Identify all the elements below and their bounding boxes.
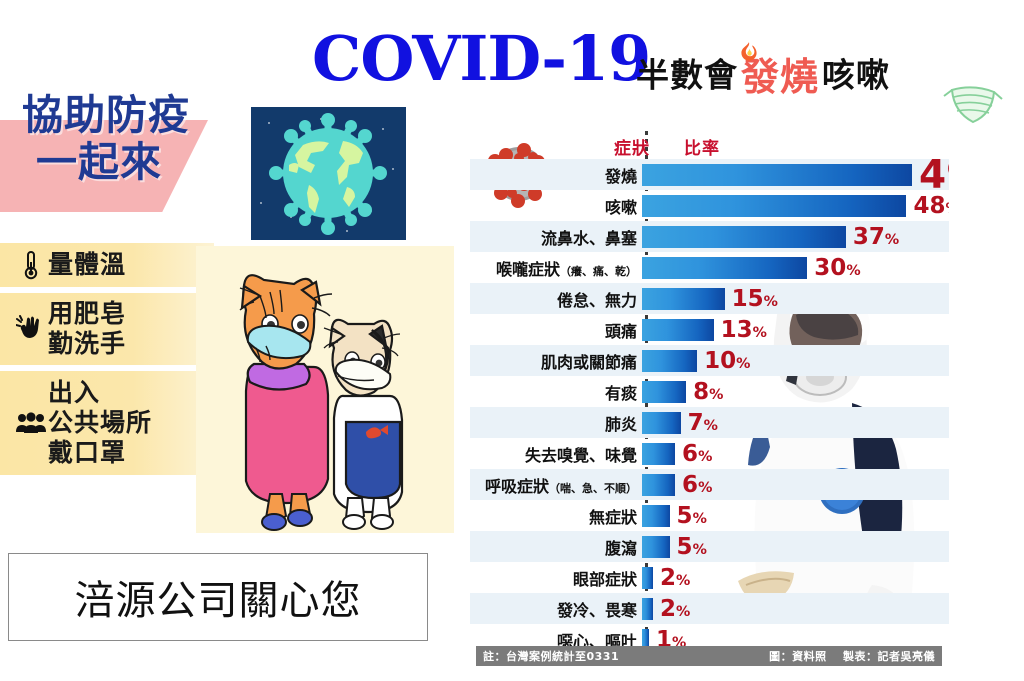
chart-row-label: 無症狀 bbox=[470, 504, 642, 528]
chart-row-label: 失去嗅覺、味覺 bbox=[470, 442, 642, 466]
chart-bar bbox=[642, 598, 653, 620]
chart-bar-value: 6% bbox=[682, 441, 712, 467]
chart-row: 無症狀5% bbox=[470, 500, 949, 531]
chart-row-label: 眼部症狀 bbox=[470, 566, 642, 590]
chart-row-label: 發冷、畏寒 bbox=[470, 597, 642, 621]
chart-bar-value: 37% bbox=[853, 224, 899, 250]
two-masked-cats-illustration bbox=[196, 246, 454, 533]
chart-bar-track: 6% bbox=[642, 438, 949, 469]
tip-measure-temperature: 量體溫 bbox=[0, 243, 214, 287]
chart-value-number: 6 bbox=[682, 472, 698, 498]
chart-value-number: 2 bbox=[660, 565, 676, 591]
chart-value-percent-sign: % bbox=[676, 573, 690, 589]
chart-value-number: 8 bbox=[693, 379, 709, 405]
chart-row-label-sub: （喘、急、不順） bbox=[549, 482, 637, 495]
chart-bar-value: 2% bbox=[660, 565, 690, 591]
headline: 半數會發燒咳嗽 bbox=[636, 56, 890, 94]
chart-bar-track: 8% bbox=[642, 376, 949, 407]
chart-row: 喉嚨症狀（癢、痛、乾）30% bbox=[470, 252, 949, 283]
chart-bar-track: 5% bbox=[642, 531, 949, 562]
chart-row: 肌肉或關節痛10% bbox=[470, 345, 949, 376]
chart-row-label: 喉嚨症狀（癢、痛、乾） bbox=[470, 256, 642, 280]
chart-rows: 發燒49%咳嗽48%流鼻水、鼻塞37%喉嚨症狀（癢、痛、乾）30%倦怠、無力15… bbox=[470, 159, 949, 655]
chart-bar-track: 49% bbox=[642, 159, 949, 190]
chart-value-percent-sign: % bbox=[693, 511, 707, 527]
chart-row-label: 肌肉或關節痛 bbox=[470, 349, 642, 373]
chart-bar-track: 13% bbox=[642, 314, 949, 345]
tip-label: 用肥皂 勤洗手 用肥皂 勤洗手 bbox=[48, 299, 126, 359]
chart-bar bbox=[642, 443, 675, 465]
chart-bar bbox=[642, 505, 670, 527]
chart-bar-track: 7% bbox=[642, 407, 949, 438]
slogan: 協助防疫 一起來 bbox=[22, 92, 252, 185]
chart-bar bbox=[642, 226, 846, 248]
chart-row-label: 咳嗽 bbox=[470, 194, 642, 218]
chart-bar bbox=[642, 288, 725, 310]
chart-bar bbox=[642, 164, 912, 186]
chart-value-percent-sign: % bbox=[698, 480, 712, 496]
chart-bar-value: 6% bbox=[682, 472, 712, 498]
chart-bar-value: 8% bbox=[693, 379, 723, 405]
chart-header-symptom: 症狀 bbox=[568, 134, 650, 159]
tip-line-1: 用肥皂 bbox=[48, 299, 126, 328]
chart-row-label: 呼吸症狀（喘、急、不順） bbox=[470, 473, 642, 497]
chart-bar-track: 2% bbox=[642, 562, 949, 593]
chart-bar-track: 6% bbox=[642, 469, 949, 500]
chart-bar-value: 15% bbox=[732, 286, 778, 312]
chart-value-percent-sign: % bbox=[709, 387, 723, 403]
footer-credit-image: 圖：資料照 bbox=[769, 650, 827, 663]
chart-bar-value: 30% bbox=[814, 255, 860, 281]
page-title: COVID-19 bbox=[312, 28, 650, 90]
chart-row: 呼吸症狀（喘、急、不順）6% bbox=[470, 469, 949, 500]
people-group-icon bbox=[14, 412, 48, 434]
chart-row: 咳嗽48% bbox=[470, 190, 949, 221]
chart-value-number: 15 bbox=[732, 286, 764, 312]
chart-row: 有痰8% bbox=[470, 376, 949, 407]
footer-note: 註：台灣案例統計至0331 bbox=[483, 648, 619, 664]
chart-value-percent-sign: % bbox=[698, 449, 712, 465]
chart-row: 發冷、畏寒2% bbox=[470, 593, 949, 624]
footer-credits: 圖：資料照 製表：記者吳亮儀 bbox=[757, 648, 935, 664]
chart-value-percent-sign: % bbox=[676, 604, 690, 620]
flame-icon bbox=[736, 40, 762, 66]
chart-bar bbox=[642, 474, 675, 496]
chart-row-label-sub: （癢、痛、乾） bbox=[560, 265, 637, 278]
chart-bar bbox=[642, 536, 670, 558]
chart-bar-track: 2% bbox=[642, 593, 949, 624]
chart-bar-track: 10% bbox=[642, 345, 949, 376]
thermometer-icon bbox=[14, 250, 48, 280]
tip-line-1: 出入 bbox=[48, 378, 100, 407]
chart-value-percent-sign: % bbox=[885, 232, 899, 248]
chart-bar bbox=[642, 412, 681, 434]
chart-bar-value: 5% bbox=[677, 534, 707, 560]
chart-value-number: 37 bbox=[853, 224, 885, 250]
chart-bar-value: 10% bbox=[704, 348, 750, 374]
chart-value-percent-sign: % bbox=[846, 263, 860, 279]
chart-value-number: 10 bbox=[704, 348, 736, 374]
chart-bar-value: 2% bbox=[660, 596, 690, 622]
chart-row: 頭痛13% bbox=[470, 314, 949, 345]
chart-bar bbox=[642, 257, 807, 279]
chart-value-number: 5 bbox=[677, 534, 693, 560]
symptom-rate-chart: 症狀 比率 發燒49%咳嗽48%流鼻水、鼻塞37%喉嚨症狀（癢、痛、乾）30%倦… bbox=[470, 131, 949, 670]
chart-value-percent-sign: % bbox=[753, 325, 767, 341]
chart-bar bbox=[642, 195, 906, 217]
headline-prefix: 半數會 bbox=[636, 56, 738, 95]
chart-value-number: 13 bbox=[721, 317, 753, 343]
tip-line-3: 戴口罩 bbox=[48, 438, 126, 467]
tip-wash-hands: 用肥皂 勤洗手 用肥皂 勤洗手 bbox=[0, 293, 214, 365]
headline-suffix: 咳嗽 bbox=[822, 56, 890, 95]
chart-value-number: 6 bbox=[682, 441, 698, 467]
company-note-box: 涪源公司關心您 bbox=[8, 553, 428, 641]
chart-value-number: 48 bbox=[913, 193, 945, 219]
chart-row-label: 頭痛 bbox=[470, 318, 642, 342]
footer-credit-chart: 製表：記者吳亮儀 bbox=[843, 650, 935, 663]
chart-bar-value: 13% bbox=[721, 317, 767, 343]
chart-bar-value: 48% bbox=[913, 193, 949, 219]
chart-header-rate: 比率 bbox=[684, 134, 720, 159]
poster-root: COVID-19 半數會發燒咳嗽 協助防疫 一起來 bbox=[0, 0, 1024, 681]
chart-bar bbox=[642, 319, 714, 341]
chart-row: 倦怠、無力15% bbox=[470, 283, 949, 314]
chart-footer: 註：台灣案例統計至0331 圖：資料照 製表：記者吳亮儀 bbox=[476, 646, 942, 666]
washing-hands-icon bbox=[14, 315, 48, 343]
chart-row-label: 肺炎 bbox=[470, 411, 642, 435]
chart-row: 流鼻水、鼻塞37% bbox=[470, 221, 949, 252]
prevention-tips: 量體溫 用肥皂 勤洗手 用肥皂 勤洗手 bbox=[0, 243, 214, 481]
chart-bar bbox=[642, 381, 686, 403]
chart-bar bbox=[642, 350, 697, 372]
chart-row: 失去嗅覺、味覺6% bbox=[470, 438, 949, 469]
slogan-line-2: 一起來 bbox=[36, 139, 252, 186]
chart-bar bbox=[642, 567, 653, 589]
tip-line-2: 公共場所 bbox=[48, 408, 152, 437]
chart-bar-track: 48% bbox=[642, 190, 949, 221]
chart-value-number: 7 bbox=[688, 410, 704, 436]
chart-value-number: 5 bbox=[677, 503, 693, 529]
tip-label: 量體溫 bbox=[48, 250, 126, 280]
chart-value-percent-sign: % bbox=[704, 418, 718, 434]
tip-label: 出入 公共場所 戴口罩 出入 公共場所 戴口罩 bbox=[48, 378, 152, 468]
chart-value-number: 2 bbox=[660, 596, 676, 622]
tip-line-2: 勤洗手 bbox=[48, 329, 126, 358]
chart-row-label: 腹瀉 bbox=[470, 535, 642, 559]
chart-value-percent-sign: % bbox=[693, 542, 707, 558]
chart-row: 發燒49% bbox=[470, 159, 949, 190]
face-mask-icon bbox=[942, 80, 1004, 126]
chart-header-row: 症狀 比率 bbox=[470, 131, 949, 159]
chart-value-number: 30 bbox=[814, 255, 846, 281]
chart-bar-track: 5% bbox=[642, 500, 949, 531]
chart-row-label: 倦怠、無力 bbox=[470, 287, 642, 311]
chart-row: 肺炎7% bbox=[470, 407, 949, 438]
tip-wear-mask-public: 出入 公共場所 戴口罩 出入 公共場所 戴口罩 bbox=[0, 371, 214, 475]
chart-bar-track: 15% bbox=[642, 283, 949, 314]
chart-value-percent-sign: % bbox=[946, 201, 950, 217]
chart-value-percent-sign: % bbox=[764, 294, 778, 310]
chart-value-percent-sign: % bbox=[736, 356, 750, 372]
chart-row-label: 有痰 bbox=[470, 380, 642, 404]
chart-row-label: 流鼻水、鼻塞 bbox=[470, 225, 642, 249]
chart-row: 腹瀉5% bbox=[470, 531, 949, 562]
chart-bar-value: 7% bbox=[688, 410, 718, 436]
virus-globe-illustration bbox=[251, 107, 406, 240]
chart-bar-value: 5% bbox=[677, 503, 707, 529]
chart-row-label: 發燒 bbox=[470, 163, 642, 187]
chart-row: 眼部症狀2% bbox=[470, 562, 949, 593]
company-note: 涪源公司關心您 bbox=[75, 568, 362, 626]
chart-bar-track: 37% bbox=[642, 221, 949, 252]
chart-bar-track: 30% bbox=[642, 252, 949, 283]
slogan-line-1: 協助防疫 bbox=[22, 91, 190, 139]
